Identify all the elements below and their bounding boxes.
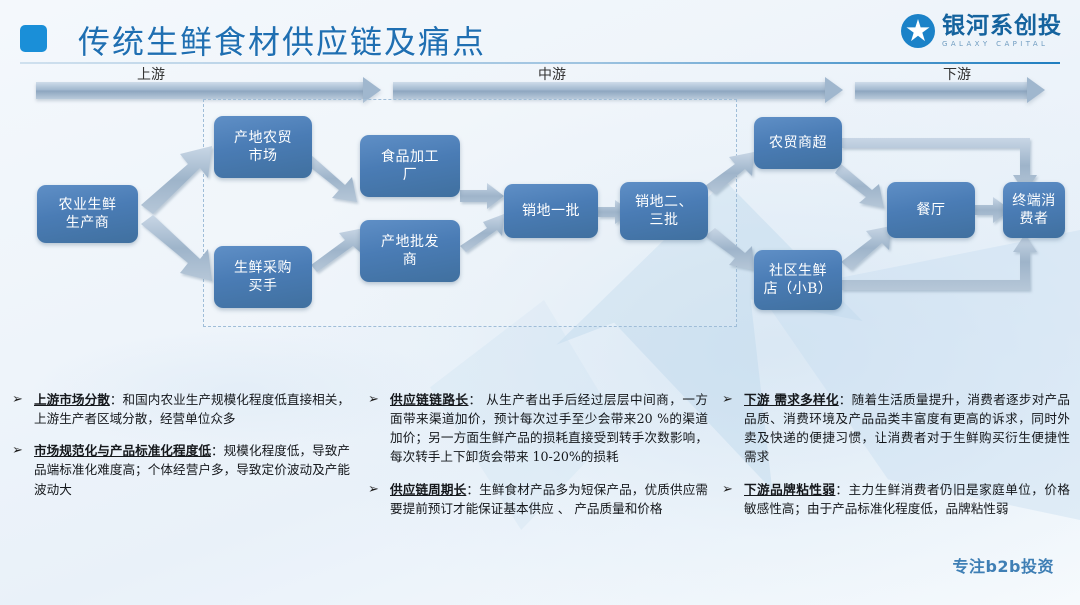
brand-name-block: 银河系创投 GALAXY CAPITAL — [942, 15, 1062, 48]
bullet-text: 下游 需求多样化：随着生活质量提升，消费者逐步对产品品质、消费环境及产品品类丰富… — [744, 390, 1070, 467]
bullet-separator: ： — [839, 392, 852, 407]
stage-upstream-arrow — [36, 82, 381, 99]
node-origin-market[interactable]: 产地农贸市场 — [214, 116, 312, 178]
node-community-store[interactable]: 社区生鲜店（小B） — [754, 250, 842, 310]
node-label: 产地农贸市场 — [234, 129, 292, 166]
bullet-heading: 下游品牌粘性弱 — [744, 482, 835, 497]
bullet-heading: 供应链链路长 — [390, 392, 469, 407]
node-food-factory[interactable]: 食品加工厂 — [360, 135, 460, 197]
bullet-text: 上游市场分散：和国内农业生产规模化程度低直接相关，上游生产者区域分散，经营单位众… — [34, 390, 350, 428]
bullet-separator: ： — [466, 482, 479, 497]
footer-tagline: 专注b2b投资 — [952, 553, 1054, 577]
stage-upstream-label: 上游 — [137, 64, 165, 84]
bullet-separator: ： — [835, 482, 848, 497]
bullet-arrow-icon: ➢ — [722, 480, 744, 518]
bullet-item: ➢上游市场分散：和国内农业生产规模化程度低直接相关，上游生产者区域分散，经营单位… — [12, 390, 350, 428]
bullet-separator: ： — [110, 392, 123, 407]
column-midstream-painpoints: ➢供应链链路长： 从生产者出手后经过层层中间商，一方面带来渠道加价，预计每次过手… — [368, 390, 708, 531]
brand-name-en: GALAXY CAPITAL — [942, 41, 1062, 48]
bullet-item: ➢供应链链路长： 从生产者出手后经过层层中间商，一方面带来渠道加价，预计每次过手… — [368, 390, 708, 467]
column-upstream-painpoints: ➢上游市场分散：和国内农业生产规模化程度低直接相关，上游生产者区域分散，经营单位… — [12, 390, 350, 512]
bullet-text: 供应链周期长：生鲜食材产品多为短保产品，优质供应需要提前预订才能保证基本供应 、… — [390, 480, 708, 518]
bullet-heading: 供应链周期长 — [390, 482, 466, 497]
page-title: 传统生鲜食材供应链及痛点 — [78, 17, 486, 63]
bullet-heading: 市场规范化与产品标准化程度低 — [34, 443, 211, 458]
stage-midstream-arrow — [393, 82, 843, 99]
bullet-separator: ： — [211, 443, 224, 458]
bullet-separator: ： — [469, 392, 482, 407]
bullet-arrow-icon: ➢ — [722, 390, 744, 467]
bullet-arrow-icon: ➢ — [368, 480, 390, 518]
stage-downstream-label: 下游 — [943, 64, 971, 84]
node-sales-second[interactable]: 销地二、三批 — [620, 182, 708, 240]
bullet-heading: 上游市场分散 — [34, 392, 110, 407]
bullet-arrow-icon: ➢ — [12, 441, 34, 498]
node-restaurant[interactable]: 餐厅 — [887, 182, 975, 238]
brand-name-cn: 银河系创投 — [942, 15, 1062, 38]
node-label: 食品加工厂 — [381, 148, 439, 185]
bullet-text: 供应链链路长： 从生产者出手后经过层层中间商，一方面带来渠道加价，预计每次过手至… — [390, 390, 708, 467]
node-label: 终端消费者 — [1012, 192, 1056, 229]
node-label: 生鲜采购买手 — [234, 259, 292, 296]
node-sales-first[interactable]: 销地一批 — [504, 184, 598, 238]
stage-midstream-label: 中游 — [538, 64, 566, 84]
bullet-item: ➢供应链周期长：生鲜食材产品多为短保产品，优质供应需要提前预订才能保证基本供应 … — [368, 480, 708, 518]
slide-canvas: 传统生鲜食材供应链及痛点 银河系创投 GALAXY CAPITAL 上游 中游 … — [0, 0, 1080, 605]
node-consumer[interactable]: 终端消费者 — [1003, 182, 1065, 238]
bullet-heading: 下游 需求多样化 — [744, 392, 839, 407]
bullet-item: ➢下游 需求多样化：随着生活质量提升，消费者逐步对产品品质、消费环境及产品品类丰… — [722, 390, 1070, 467]
bullet-arrow-icon: ➢ — [368, 390, 390, 467]
node-buyer[interactable]: 生鲜采购买手 — [214, 246, 312, 308]
bullet-item: ➢市场规范化与产品标准化程度低：规模化程度低，导致产品端标准化难度高；个体经营户… — [12, 441, 350, 498]
bullet-arrow-icon: ➢ — [12, 390, 34, 428]
brand-logo: 银河系创投 GALAXY CAPITAL — [901, 14, 1062, 48]
bullet-text: 下游品牌粘性弱：主力生鲜消费者仍旧是家庭单位，价格敏感性高；由于产品标准化程度低… — [744, 480, 1070, 518]
node-label: 产地批发商 — [381, 233, 439, 270]
node-label: 农业生鲜生产商 — [59, 196, 117, 233]
node-label: 销地二、三批 — [635, 193, 693, 230]
column-downstream-painpoints: ➢下游 需求多样化：随着生活质量提升，消费者逐步对产品品质、消费环境及产品品类丰… — [722, 390, 1070, 531]
galaxy-star-logo-icon — [901, 14, 935, 48]
stage-downstream-arrow — [855, 82, 1045, 99]
bullet-text: 市场规范化与产品标准化程度低：规模化程度低，导致产品端标准化难度高；个体经营户多… — [34, 441, 350, 498]
node-producer[interactable]: 农业生鲜生产商 — [37, 185, 138, 243]
square-bullet-icon — [20, 25, 47, 52]
node-label: 社区生鲜店（小B） — [764, 262, 833, 299]
bullet-item: ➢下游品牌粘性弱：主力生鲜消费者仍旧是家庭单位，价格敏感性高；由于产品标准化程度… — [722, 480, 1070, 518]
node-agri-supermarket[interactable]: 农贸商超 — [754, 117, 842, 169]
node-origin-wholesaler[interactable]: 产地批发商 — [360, 220, 460, 282]
